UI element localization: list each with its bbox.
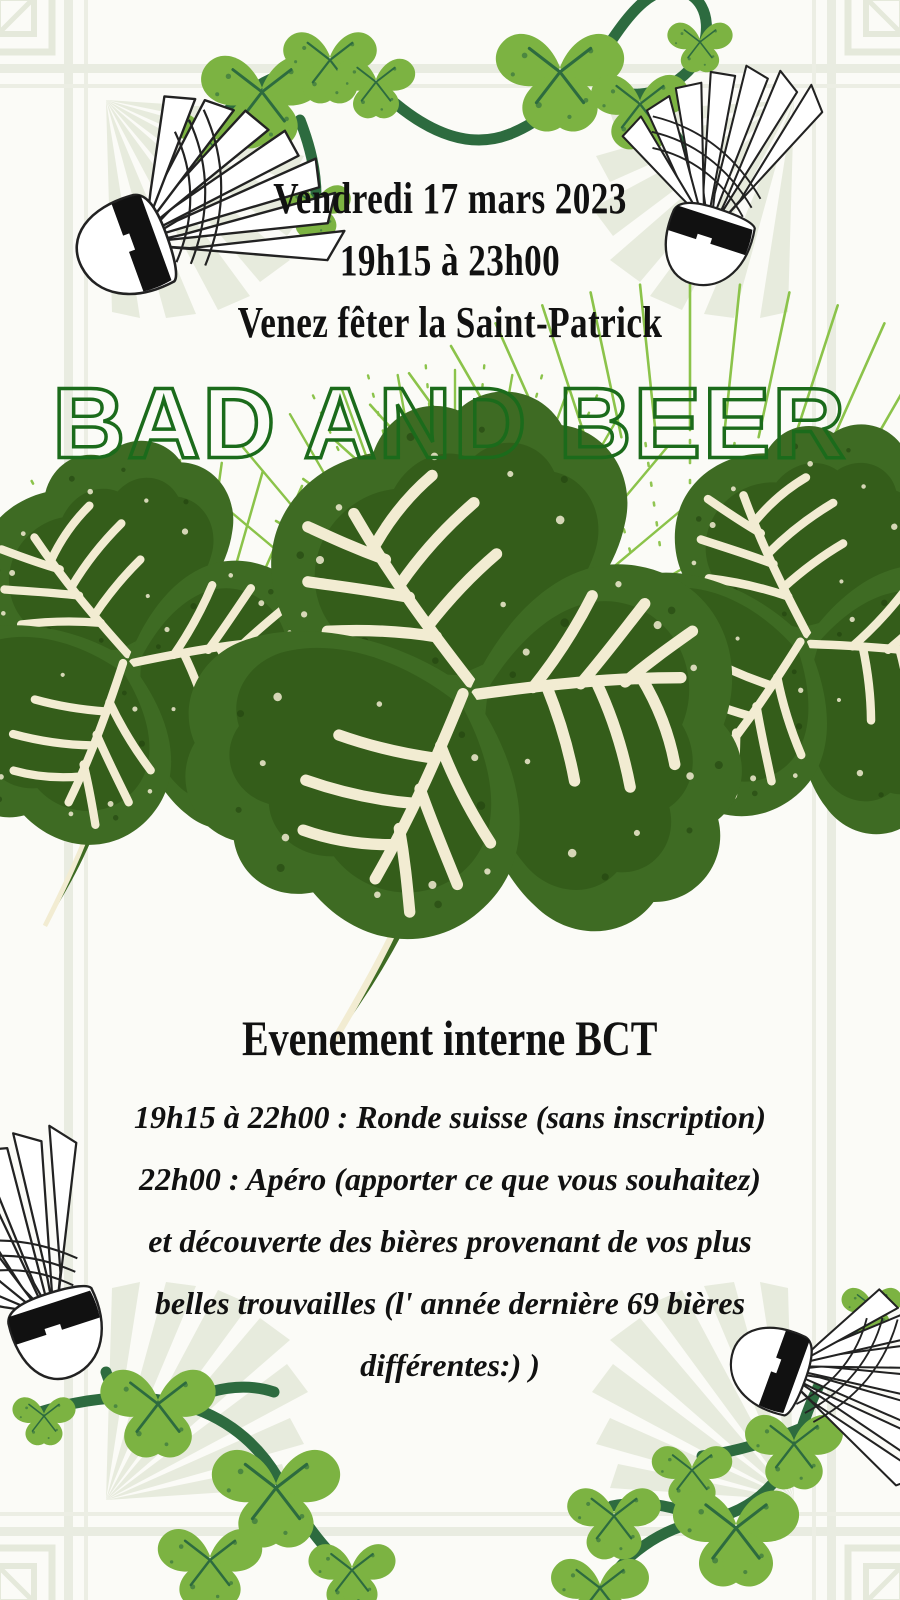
program-line-3: et découverte des bières provenant de vo…: [50, 1210, 850, 1272]
program-line-2: 22h00 : Apéro (apporter ce que vous souh…: [50, 1148, 850, 1210]
section-heading-text: Evenement interne BCT: [242, 1008, 658, 1068]
event-tagline: Venez fêter la Saint-Patrick: [90, 292, 810, 354]
program-line-5: différentes:) ): [50, 1334, 850, 1396]
section-heading: Evenement interne BCT: [0, 1008, 900, 1068]
clover-icon: [12, 1397, 75, 1445]
event-time: 19h15 à 23h00: [90, 230, 810, 292]
clover-icon: [673, 1490, 799, 1586]
poster-canvas: Vendredi 17 mars 2023 19h15 à 23h00 Vene…: [0, 0, 900, 1600]
clover-icon: [667, 23, 732, 73]
program-line-1: 19h15 à 22h00 : Ronde suisse (sans inscr…: [50, 1086, 850, 1148]
clover-icon: [551, 1559, 649, 1600]
clover-vine-bottom-left-icon: [12, 1370, 395, 1600]
event-date: Vendredi 17 mars 2023: [90, 168, 810, 230]
program-line-4: belles trouvailles (l' année dernière 69…: [50, 1272, 850, 1334]
clover-icon: [158, 1529, 262, 1600]
program-details: 19h15 à 22h00 : Ronde suisse (sans inscr…: [50, 1086, 850, 1396]
event-header: Vendredi 17 mars 2023 19h15 à 23h00 Vene…: [0, 168, 900, 354]
clover-icon: [308, 1544, 395, 1600]
